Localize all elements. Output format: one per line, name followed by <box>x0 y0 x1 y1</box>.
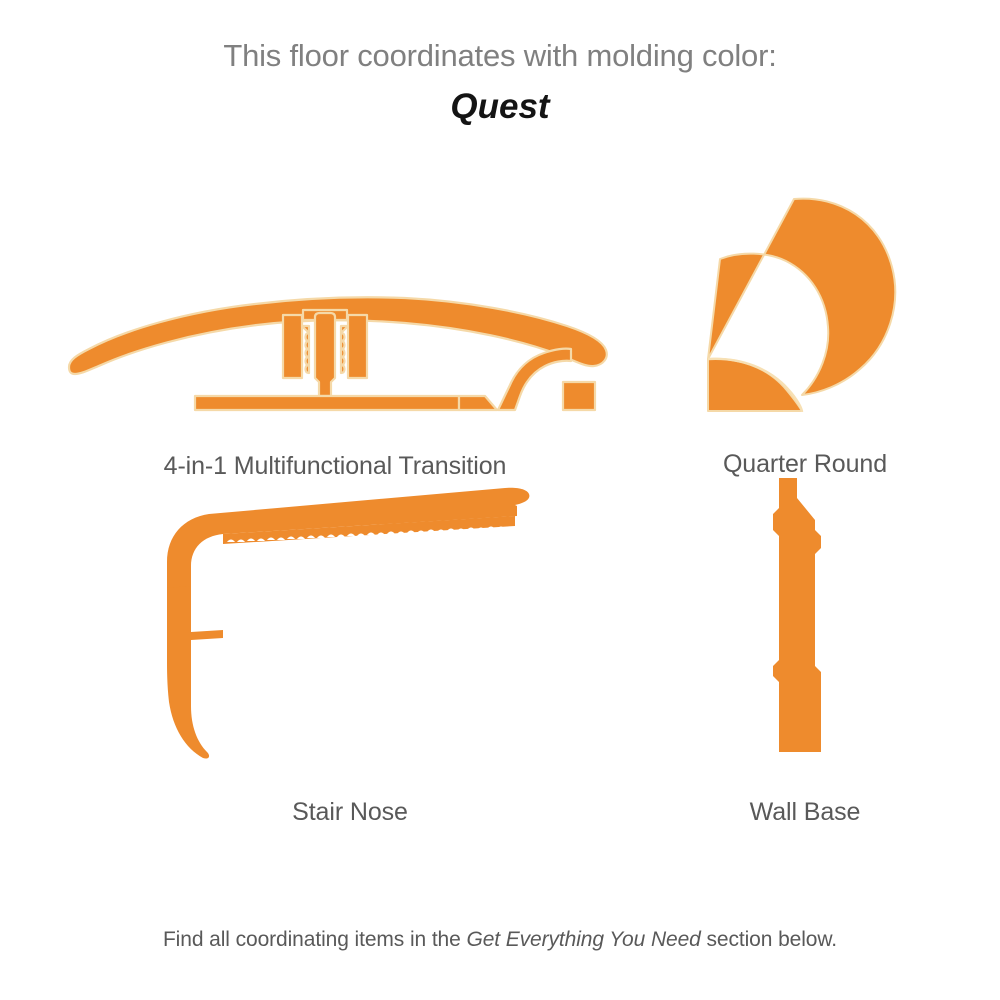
stair-nose-profile-art <box>120 470 580 760</box>
footer-note: Find all coordinating items in the Get E… <box>0 928 1000 952</box>
molding-item-wall-base: Wall Base <box>640 470 970 827</box>
footer-text-before: Find all coordinating items in the <box>163 928 467 951</box>
wall-base-profile-icon <box>745 470 865 760</box>
card-header: This floor coordinates with molding colo… <box>0 38 1000 126</box>
molding-grid: 4-in-1 Multifunctional Transition Quarte… <box>0 170 1000 870</box>
transition-profile-art <box>30 260 640 430</box>
header-intro-line: This floor coordinates with molding colo… <box>0 38 1000 74</box>
stair-nose-profile-icon <box>145 470 555 760</box>
molding-color-name: Quest <box>0 88 1000 127</box>
footer-text-after: section below. <box>701 928 837 951</box>
quarter-round-profile-icon <box>690 181 920 421</box>
molding-item-quarter-round: Quarter Round <box>640 170 970 479</box>
molding-label-wall-base: Wall Base <box>640 798 970 827</box>
molding-item-four-in-one-multifunctional-transition: 4-in-1 Multifunctional Transition <box>30 260 640 481</box>
molding-label-stair-nose: Stair Nose <box>120 798 580 827</box>
footer-emphasis: Get Everything You Need <box>466 928 700 951</box>
molding-item-stair-nose: Stair Nose <box>120 470 580 827</box>
quarter-round-profile-art <box>640 170 970 432</box>
transition-profile-icon <box>55 270 615 420</box>
molding-coordination-card: This floor coordinates with molding colo… <box>0 0 1000 1000</box>
wall-base-profile-art <box>640 470 970 760</box>
